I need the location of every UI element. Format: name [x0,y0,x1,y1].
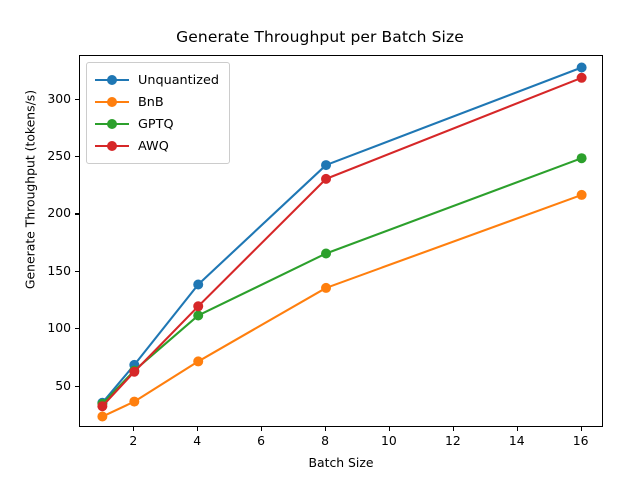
data-point-marker [193,310,203,320]
y-tick-label: 50 [20,378,71,393]
x-tick-label: 10 [369,433,409,448]
data-point-marker [129,367,139,377]
y-tick-label: 300 [20,91,71,106]
data-point-marker [193,279,203,289]
data-point-marker [577,190,587,200]
data-point-marker [129,397,139,407]
legend-item-bnb[interactable]: BnB [95,91,219,113]
data-point-marker [321,174,331,184]
data-point-marker [97,401,107,411]
legend-label: BnB [138,95,164,110]
chart-figure: Generate Throughput per Batch Size Gener… [0,0,640,480]
data-point-marker [193,356,203,366]
x-tick-mark [325,427,326,431]
chart-title: Generate Throughput per Batch Size [0,28,640,46]
x-tick-mark [261,427,262,431]
y-tick-label: 250 [20,148,71,163]
x-axis-label: Batch Size [79,455,603,470]
data-point-marker [321,283,331,293]
data-point-marker [321,160,331,170]
legend-label: AWQ [138,139,169,154]
data-point-marker [321,248,331,258]
series-bnb [97,190,586,422]
y-tick-label: 150 [20,263,71,278]
legend-label: Unquantized [138,73,219,88]
legend-swatch-icon [95,117,129,131]
x-tick-mark [133,427,134,431]
x-tick-label: 14 [497,433,537,448]
x-tick-mark [517,427,518,431]
chart-legend: UnquantizedBnBGPTQAWQ [86,62,230,164]
legend-swatch-icon [95,139,129,153]
series-line [102,195,581,417]
y-tick-label: 100 [20,320,71,335]
x-tick-mark [197,427,198,431]
x-tick-label: 6 [241,433,281,448]
data-point-marker [577,73,587,83]
data-point-marker [193,301,203,311]
data-point-marker [577,62,587,72]
data-point-marker [97,412,107,422]
x-tick-mark [581,427,582,431]
legend-swatch-icon [95,95,129,109]
data-point-marker [577,153,587,163]
x-tick-label: 12 [433,433,473,448]
legend-item-gptq[interactable]: GPTQ [95,113,219,135]
x-tick-label: 4 [177,433,217,448]
x-tick-label: 8 [305,433,345,448]
x-tick-label: 2 [113,433,153,448]
legend-label: GPTQ [138,117,174,132]
x-tick-mark [389,427,390,431]
legend-item-awq[interactable]: AWQ [95,135,219,157]
x-tick-label: 16 [561,433,601,448]
legend-item-unquantized[interactable]: Unquantized [95,69,219,91]
x-tick-mark [453,427,454,431]
legend-swatch-icon [95,73,129,87]
y-tick-label: 200 [20,205,71,220]
